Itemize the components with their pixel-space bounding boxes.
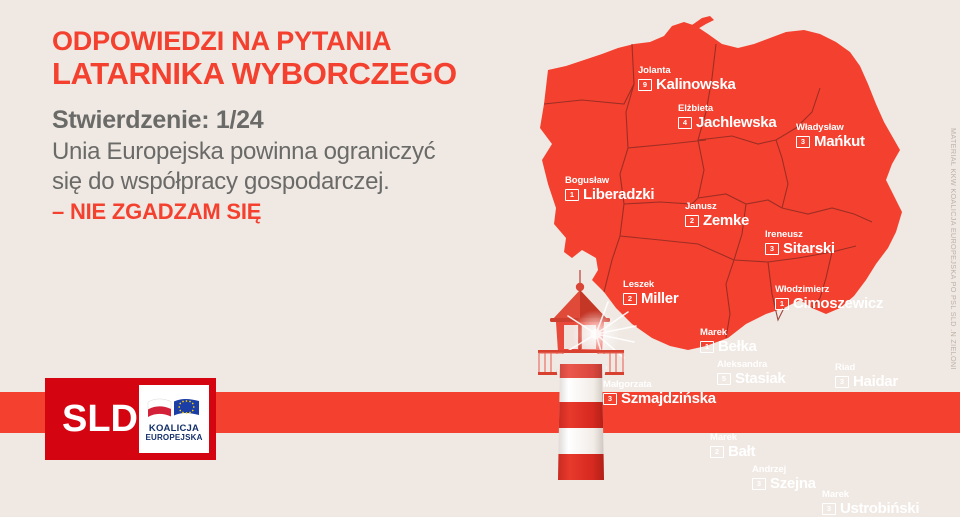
poster-canvas: ODPOWIEDZI NA PYTANIA LATARNIKA WYBORCZE…	[0, 0, 960, 480]
headline-line-1: ODPOWIEDZI NA PYTANIA	[52, 26, 522, 56]
candidate-list-number-badge: 4	[678, 117, 692, 129]
statement-text-line-1: Unia Europejska powinna ograniczyć	[52, 138, 435, 165]
candidate-first-name: Jolanta	[638, 66, 736, 76]
map-candidate-label: Jolanta9Kalinowska	[638, 66, 736, 92]
candidate-list-number-badge: 5	[717, 373, 731, 385]
candidate-first-name: Aleksandra	[717, 360, 785, 370]
candidate-name-row: 1Liberadzki	[565, 187, 654, 202]
candidate-last-name: Haidar	[853, 374, 898, 389]
lighthouse-illustration	[508, 268, 653, 480]
candidate-list-number-badge: 2	[685, 215, 699, 227]
candidate-first-name: Marek	[700, 328, 757, 338]
map-candidate-label: Marek1Bełka	[700, 328, 757, 354]
candidate-first-name: Ireneusz	[765, 230, 835, 240]
candidate-list-number-badge: 3	[765, 243, 779, 255]
candidate-name-row: 2Zemke	[685, 213, 749, 228]
candidate-first-name: Władysław	[796, 123, 865, 133]
candidate-last-name: Zemke	[703, 213, 749, 228]
candidate-first-name: Riad	[835, 363, 898, 373]
candidate-name-row: 1Cimoszewicz	[775, 296, 883, 311]
candidate-name-row: 4Jachlewska	[678, 115, 776, 130]
candidate-last-name: Stasiak	[735, 371, 785, 386]
candidate-list-number-badge: 2	[710, 446, 724, 458]
candidate-list-number-badge: 3	[835, 376, 849, 388]
statement-counter: Stwierdzenie: 1/24	[52, 105, 512, 136]
candidate-first-name: Marek	[822, 490, 919, 500]
candidate-last-name: Jachlewska	[696, 115, 776, 130]
candidate-list-number-badge: 1	[775, 298, 789, 310]
sld-logo-block: SLD	[45, 378, 216, 460]
candidate-last-name: Bałt	[728, 444, 755, 459]
map-candidate-label: Aleksandra5Stasiak	[717, 360, 785, 386]
candidate-first-name: Andrzej	[752, 465, 816, 475]
candidate-first-name: Bogusław	[565, 176, 654, 186]
candidate-name-row: 1Bełka	[700, 339, 757, 354]
statement-block: Stwierdzenie: 1/24 Unia Europejska powin…	[52, 105, 512, 225]
koalicja-europejska-logo: KOALICJA EUROPEJSKA	[139, 385, 209, 453]
candidate-first-name: Elżbieta	[678, 104, 776, 114]
sld-wordmark: SLD	[62, 400, 138, 438]
candidate-name-row: 3Mańkut	[796, 134, 865, 149]
candidate-name-row: 3Sitarski	[765, 241, 835, 256]
candidate-list-number-badge: 1	[700, 341, 714, 353]
map-candidate-label: Andrzej3Szejna	[752, 465, 816, 491]
candidate-first-name: Janusz	[685, 202, 749, 212]
candidate-list-number-badge: 3	[796, 136, 810, 148]
map-candidate-label: Bogusław1Liberadzki	[565, 176, 654, 202]
candidate-name-row: 9Kalinowska	[638, 77, 736, 92]
candidate-name-row: 3Ustrobiński	[822, 501, 919, 516]
candidate-name-row: 5Stasiak	[717, 371, 785, 386]
candidate-name-row: 3Szejna	[752, 476, 816, 491]
candidate-last-name: Sitarski	[783, 241, 835, 256]
map-candidate-label: Władysław3Mańkut	[796, 123, 865, 149]
candidate-last-name: Kalinowska	[656, 77, 736, 92]
candidate-list-number-badge: 3	[752, 478, 766, 490]
koalicja-label-line-2: EUROPEJSKA	[145, 434, 202, 443]
candidate-last-name: Ustrobiński	[840, 501, 919, 516]
candidate-first-name: Włodzimierz	[775, 285, 883, 295]
candidate-last-name: Bełka	[718, 339, 757, 354]
candidate-list-number-badge: 9	[638, 79, 652, 91]
map-candidate-label: Ireneusz3Sitarski	[765, 230, 835, 256]
candidate-name-row: 2Bałt	[710, 444, 755, 459]
statement-text: Unia Europejska powinna ograniczyć się d…	[52, 137, 512, 196]
map-candidate-label: Marek3Ustrobiński	[822, 490, 919, 516]
map-candidate-label: Elżbieta4Jachlewska	[678, 104, 776, 130]
candidate-list-number-badge: 3	[822, 503, 836, 515]
candidate-last-name: Cimoszewicz	[793, 296, 883, 311]
candidate-first-name: Marek	[710, 433, 755, 443]
map-candidate-label: Włodzimierz1Cimoszewicz	[775, 285, 883, 311]
map-candidate-label: Riad3Haidar	[835, 363, 898, 389]
candidate-name-row: 3Haidar	[835, 374, 898, 389]
polish-and-eu-flags-icon	[146, 395, 202, 421]
headline: ODPOWIEDZI NA PYTANIA LATARNIKA WYBORCZE…	[52, 26, 522, 92]
candidate-last-name: Szejna	[770, 476, 816, 491]
candidate-list-number-badge: 1	[565, 189, 579, 201]
map-candidate-label: Marek2Bałt	[710, 433, 755, 459]
statement-answer: – NIE ZGADZAM SIĘ	[52, 199, 512, 225]
statement-text-line-2: się do współpracy gospodarczej.	[52, 168, 390, 195]
candidate-last-name: Liberadzki	[583, 187, 654, 202]
headline-line-2: LATARNIKA WYBORCZEGO	[52, 57, 522, 92]
candidate-last-name: Mańkut	[814, 134, 865, 149]
map-candidate-label: Janusz2Zemke	[685, 202, 749, 228]
